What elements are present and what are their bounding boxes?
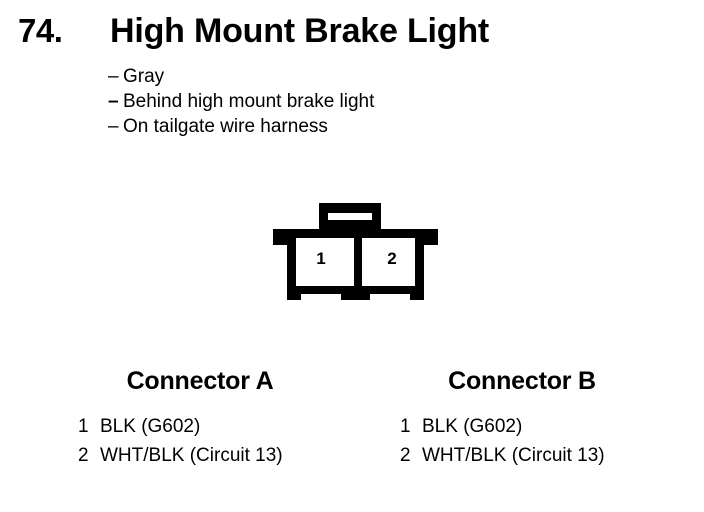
header-block: 74. High Mount Brake Light – Gray – Behi…	[0, 0, 704, 170]
table-row: 2 WHT/BLK (Circuit 13)	[400, 441, 682, 470]
pin-description: WHT/BLK (Circuit 13)	[422, 441, 605, 470]
dash-bullet-icon: –	[108, 114, 123, 139]
pin-number: 2	[78, 441, 100, 470]
latch-tab-bottom-bar	[319, 220, 381, 229]
pin-number: 1	[400, 412, 422, 441]
connector-b-heading: Connector B	[362, 366, 682, 396]
pin-description: WHT/BLK (Circuit 13)	[100, 441, 283, 470]
latch-tab-top-bar	[319, 203, 381, 213]
connector-face-drawing: 1 2	[262, 198, 452, 323]
dash-bullet-icon: –	[108, 89, 123, 114]
table-row: 1 BLK (G602)	[78, 412, 360, 441]
pin-description: BLK (G602)	[100, 412, 200, 441]
latch-tab-left-wall	[319, 203, 328, 229]
attribute-item: – Gray	[108, 64, 608, 89]
pin-description: BLK (G602)	[422, 412, 522, 441]
connector-a-pin-table: 1 BLK (G602) 2 WHT/BLK (Circuit 13)	[40, 412, 360, 470]
cavity-2-pin-number: 2	[387, 249, 396, 268]
connector-right-wall	[415, 229, 424, 293]
dash-bullet-icon: –	[108, 64, 123, 89]
table-row: 2 WHT/BLK (Circuit 13)	[78, 441, 360, 470]
connector-diagram: 1 2	[262, 198, 452, 323]
pin-number: 2	[400, 441, 422, 470]
attribute-item: – On tailgate wire harness	[108, 114, 608, 139]
connector-bottom-rail	[287, 286, 424, 294]
table-row: 1 BLK (G602)	[400, 412, 682, 441]
attribute-item: – Behind high mount brake light	[108, 89, 608, 114]
latch-tab-slot	[319, 213, 381, 220]
page-title: High Mount Brake Light	[110, 11, 489, 51]
attribute-label: Gray	[123, 64, 164, 89]
section-number: 74.	[18, 12, 62, 50]
connector-left-wall	[287, 229, 296, 293]
attribute-list: – Gray – Behind high mount brake light –…	[108, 64, 608, 139]
latch-tab-right-wall	[372, 203, 381, 229]
cavity-1-pin-number: 1	[316, 249, 325, 268]
connector-b-pin-table: 1 BLK (G602) 2 WHT/BLK (Circuit 13)	[362, 412, 682, 470]
connector-a-group: Connector A 1 BLK (G602) 2 WHT/BLK (Circ…	[40, 366, 360, 470]
cavity-divider-wall	[354, 229, 362, 293]
connector-b-group: Connector B 1 BLK (G602) 2 WHT/BLK (Circ…	[362, 366, 682, 470]
attribute-label: On tailgate wire harness	[123, 114, 328, 139]
connector-a-heading: Connector A	[40, 366, 360, 396]
attribute-label: Behind high mount brake light	[123, 89, 374, 114]
pin-number: 1	[78, 412, 100, 441]
